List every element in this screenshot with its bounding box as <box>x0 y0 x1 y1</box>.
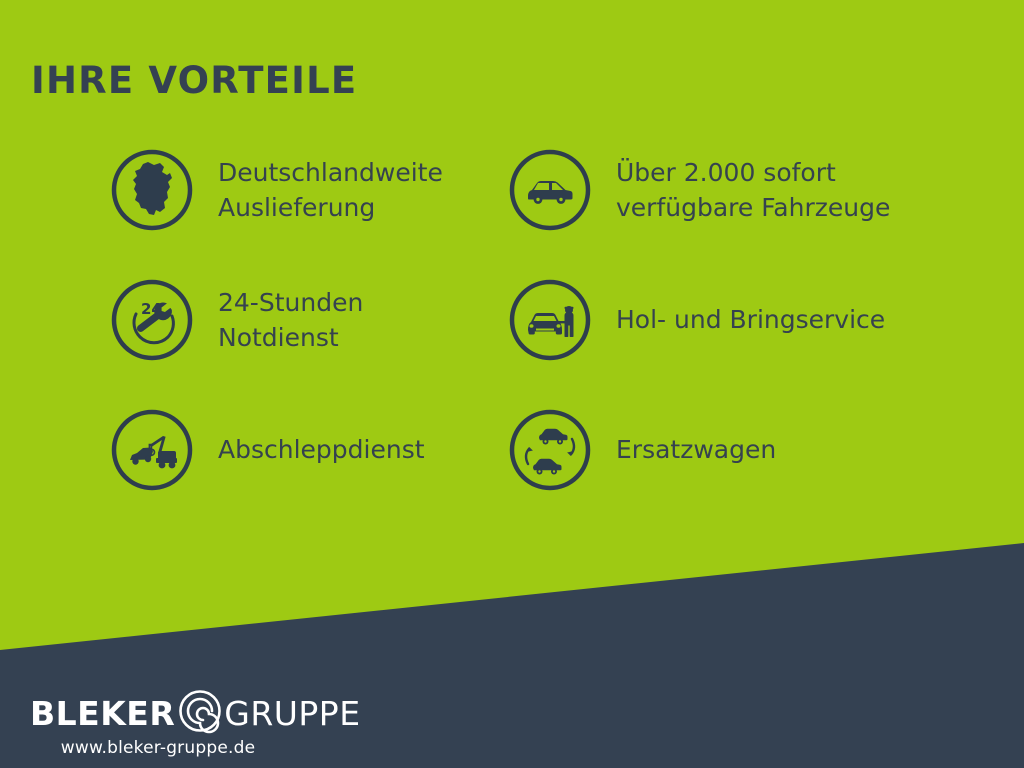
logo-name-light: GRUPPE <box>224 697 360 730</box>
benefit-item-verfuegbare-fahrzeuge: Über 2.000 sofort verfügbare Fahrzeuge <box>508 148 938 278</box>
24-hour-wrench-icon: 24 <box>110 278 194 362</box>
benefit-item-abschleppdienst: Abschleppdienst <box>110 408 510 538</box>
page-title: IHRE VORTEILE <box>31 62 357 99</box>
car-side-icon <box>508 148 592 232</box>
benefit-label: Über 2.000 sofort verfügbare Fahrzeuge <box>616 148 890 232</box>
logo-wordmark: BLEKER GRUPPE <box>30 693 361 733</box>
benefit-label: Abschleppdienst <box>218 408 425 492</box>
benefit-label: Hol- und Bringservice <box>616 278 885 362</box>
benefit-label: Deutschlandweite Auslieferung <box>218 148 443 232</box>
benefit-label-line2: Auslieferung <box>218 190 443 226</box>
benefits-left-column: Deutschlandweite Auslieferung 24 24-Stun… <box>110 148 510 538</box>
benefit-label-line1: Über 2.000 sofort <box>616 155 890 191</box>
two-cars-exchange-icon <box>508 408 592 492</box>
benefit-label-line1: Abschleppdienst <box>218 432 425 468</box>
benefit-label-line1: Hol- und Bringservice <box>616 302 885 338</box>
car-with-driver-icon <box>508 278 592 362</box>
benefit-item-ersatzwagen: Ersatzwagen <box>508 408 938 538</box>
germany-map-icon <box>110 148 194 232</box>
slide-canvas: IHRE VORTEILE Deutschlandweite Ausliefer… <box>0 0 1024 768</box>
tow-truck-icon <box>110 408 194 492</box>
benefit-label-line1: Deutschlandweite <box>218 155 443 191</box>
benefit-item-hol-und-bringservice: Hol- und Bringservice <box>508 278 938 408</box>
logo-name-bold: BLEKER <box>30 697 175 730</box>
benefit-label: Ersatzwagen <box>616 408 776 492</box>
website-url: www.bleker-gruppe.de <box>30 738 286 758</box>
benefit-label: 24-Stunden Notdienst <box>218 278 363 362</box>
benefit-label-line2: Notdienst <box>218 320 363 356</box>
benefits-right-column: Über 2.000 sofort verfügbare Fahrzeuge <box>508 148 938 538</box>
benefit-item-deutschlandweite-auslieferung: Deutschlandweite Auslieferung <box>110 148 510 278</box>
benefit-label-line1: Ersatzwagen <box>616 432 776 468</box>
footer-logo: BLEKER GRUPPE www.bleker-gruppe.de <box>30 693 361 755</box>
benefit-label-line2: verfügbare Fahrzeuge <box>616 190 890 226</box>
benefit-label-line1: 24-Stunden <box>218 285 363 321</box>
benefit-item-24-stunden-notdienst: 24 24-Stunden Notdienst <box>110 278 510 408</box>
spiral-icon <box>177 688 223 738</box>
